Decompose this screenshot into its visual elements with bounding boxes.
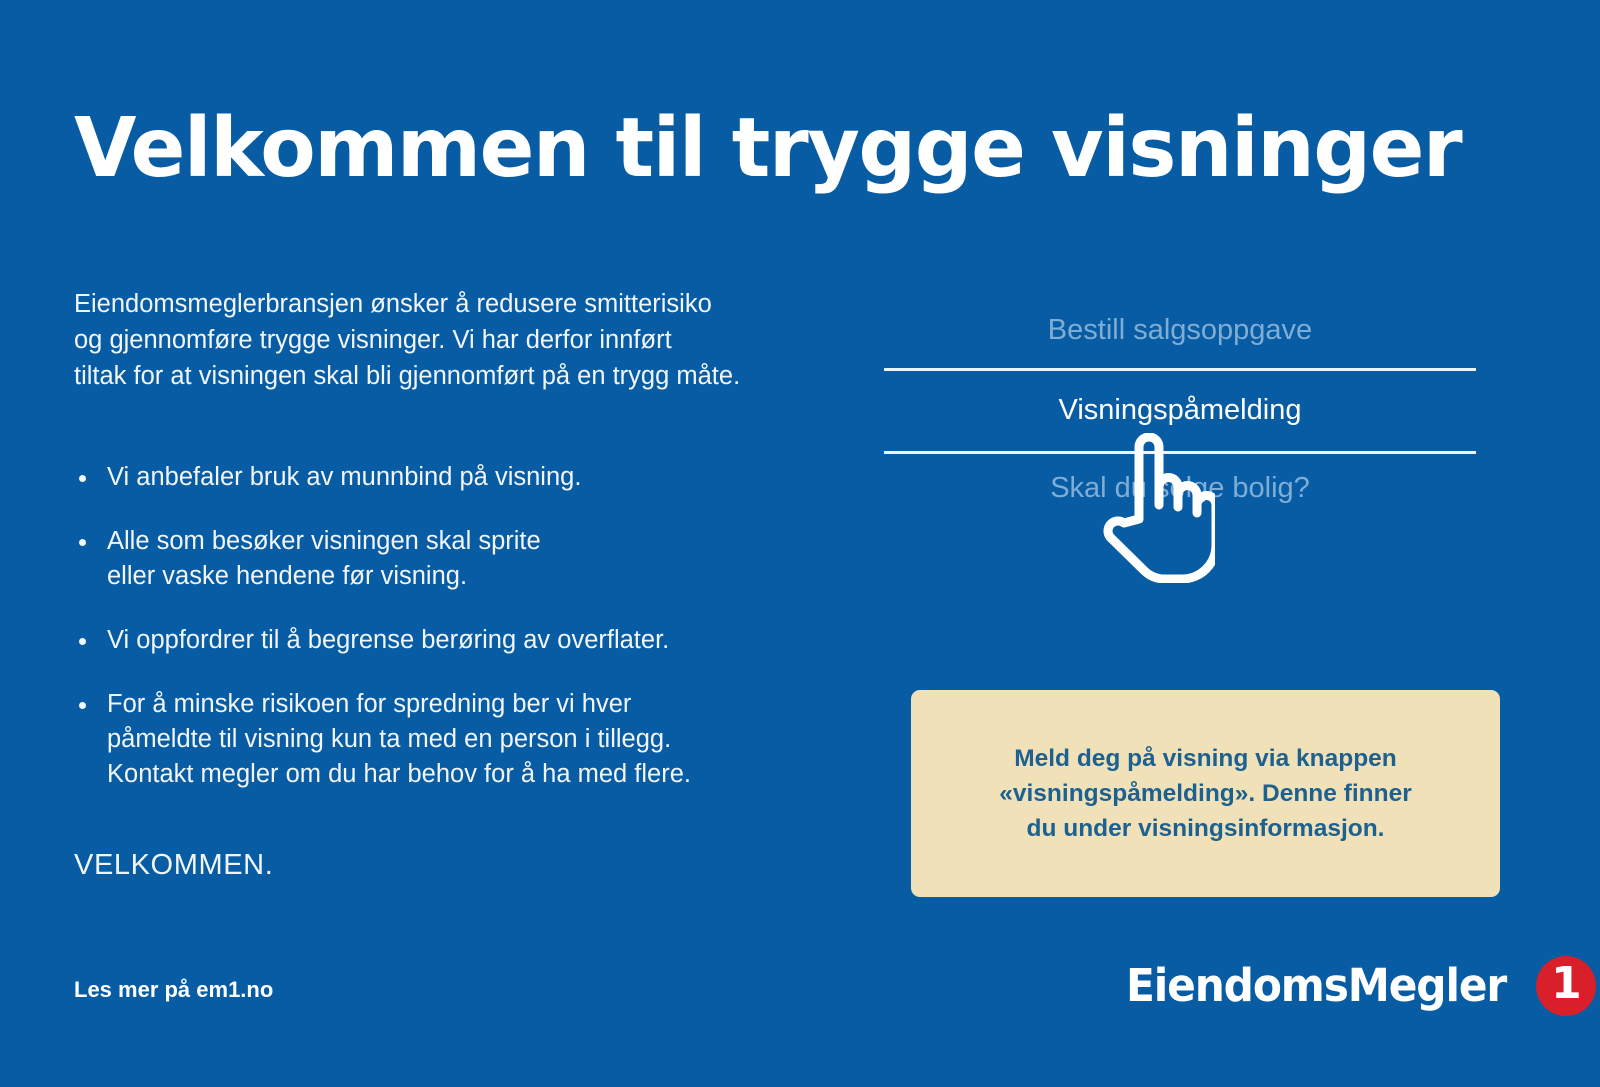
list-item: Vi anbefaler bruk av munnbind på visning… (74, 460, 774, 495)
menu-item-bestill-salgsoppgave[interactable]: Bestill salgsoppgave (884, 296, 1476, 368)
page-title: Velkommen til trygge visninger (74, 101, 1522, 197)
closing-text: VELKOMMEN. (74, 849, 774, 882)
callout-text: Meld deg på visning via knappen «visning… (971, 741, 1440, 846)
callout-line-2: «visningspåmelding». Denne finner (999, 776, 1412, 811)
info-callout-box: Meld deg på visning via knappen «visning… (911, 690, 1500, 897)
eiendomsmegler1-logo: EiendomsMegler 1 (1126, 956, 1596, 1016)
measures-list: Vi anbefaler bruk av munnbind på visning… (74, 460, 774, 792)
bullet-line: Kontakt megler om du har behov for å ha … (107, 757, 774, 792)
list-item: Alle som besøker visningen skal sprite e… (74, 524, 774, 594)
list-item: Vi oppfordrer til å begrense berøring av… (74, 623, 774, 658)
logo-badge-number: 1 (1551, 962, 1582, 1006)
bullet-line: Vi anbefaler bruk av munnbind på visning… (107, 460, 774, 495)
pointing-hand-cursor-icon (1103, 433, 1215, 583)
callout-line-3: du under visningsinformasjon. (999, 811, 1412, 846)
intro-line-2: og gjennomføre trygge visninger. Vi har … (74, 322, 774, 358)
intro-line-3: tiltak for at visningen skal bli gjennom… (74, 358, 774, 394)
bullet-line: For å minske risikoen for spredning ber … (107, 687, 774, 722)
bullet-line: eller vaske hendene før visning. (107, 559, 774, 594)
bullet-line: Alle som besøker visningen skal sprite (107, 524, 774, 559)
logo-wordmark: EiendomsMegler (1126, 960, 1506, 1012)
intro-paragraph: Eiendomsmeglerbransjen ønsker å redusere… (74, 286, 774, 394)
bullet-line: Vi oppfordrer til å begrense berøring av… (107, 623, 774, 658)
list-item: For å minske risikoen for spredning ber … (74, 687, 774, 792)
intro-line-1: Eiendomsmeglerbransjen ønsker å redusere… (74, 286, 774, 322)
callout-line-1: Meld deg på visning via knappen (999, 741, 1412, 776)
logo-badge-circle: 1 (1536, 956, 1596, 1016)
read-more-text: Les mer på em1.no (74, 977, 273, 1003)
bullet-line: påmeldte til visning kun ta med en perso… (107, 722, 774, 757)
left-content-column: Eiendomsmeglerbransjen ønsker å redusere… (74, 286, 774, 882)
poster-canvas: Velkommen til trygge visninger Eiendomsm… (0, 0, 1600, 1087)
